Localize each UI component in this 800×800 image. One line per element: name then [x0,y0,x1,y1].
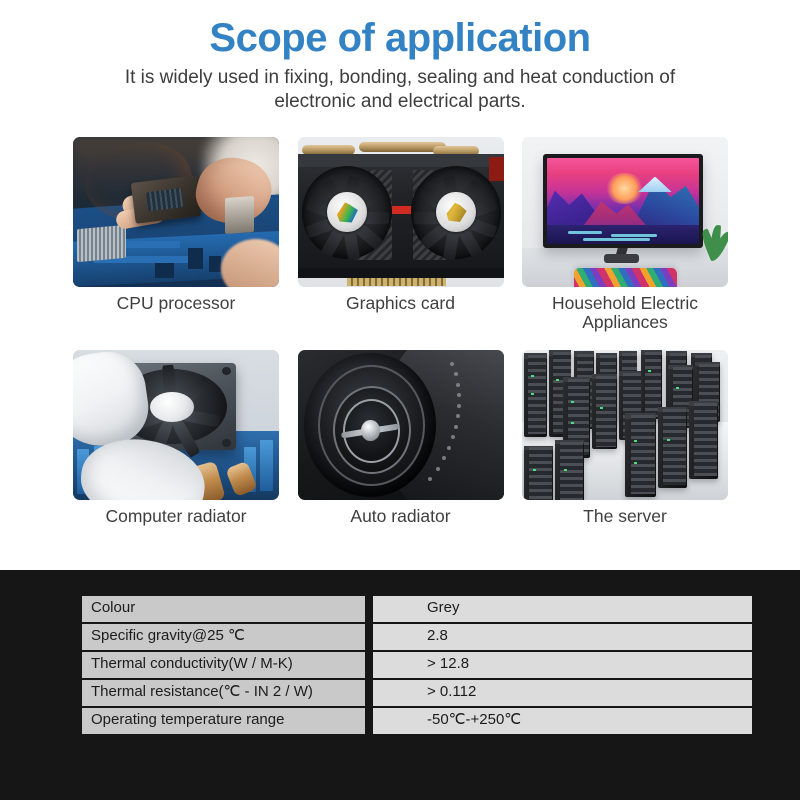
gallery-caption: Auto radiator [298,507,504,527]
gallery-caption: Household Electric Appliances [522,294,728,332]
gallery-item-cpu-processor[interactable]: CPU processor [73,137,279,332]
gallery-item-auto-radiator[interactable]: Auto radiator [298,350,504,527]
table-row: Colour Grey [82,596,752,622]
cpu-processor-photo [73,137,279,287]
household-appliance-monitor-photo [522,137,728,287]
spec-table-band: Colour Grey Specific gravity@25 ℃ 2.8 Th… [0,570,800,800]
spec-key: Colour [82,596,373,622]
gallery-item-server[interactable]: The server [522,350,728,527]
server-rack-photo [522,350,728,500]
spec-value: 2.8 [373,624,752,650]
page-header: Scope of application It is widely used i… [0,0,800,115]
product-detail-page: Scope of application It is widely used i… [0,0,800,800]
computer-radiator-photo [73,350,279,500]
page-title: Scope of application [0,16,800,60]
gallery-item-household-appliances[interactable]: Household Electric Appliances [522,137,728,332]
gallery-caption: Computer radiator [73,507,279,527]
table-row: Thermal resistance(℃ - IN 2 / W) > 0.112 [82,680,752,706]
table-row: Operating temperature range -50℃-+250℃ [82,708,752,734]
gallery-item-computer-radiator[interactable]: Computer radiator [73,350,279,527]
gallery-caption: Graphics card [298,294,504,314]
spec-value: -50℃-+250℃ [373,708,752,734]
table-row: Thermal conductivity(W / M-K) > 12.8 [82,652,752,678]
spec-value: Grey [373,596,752,622]
spec-key: Thermal conductivity(W / M-K) [82,652,373,678]
spec-value: > 0.112 [373,680,752,706]
spec-value: > 12.8 [373,652,752,678]
page-subtitle: It is widely used in fixing, bonding, se… [120,66,680,115]
spec-table-body: Colour Grey Specific gravity@25 ℃ 2.8 Th… [82,596,752,734]
plant-decoration [703,224,726,269]
spec-key: Operating temperature range [82,708,373,734]
gallery-caption: CPU processor [73,294,279,314]
gallery-caption: The server [522,507,728,527]
spec-table: Colour Grey Specific gravity@25 ℃ 2.8 Th… [82,594,752,736]
graphics-card-photo [298,137,504,287]
gallery-row-2: Computer radiator [73,350,728,527]
gallery-item-graphics-card[interactable]: Graphics card [298,137,504,332]
table-row: Specific gravity@25 ℃ 2.8 [82,624,752,650]
gallery-row-1: CPU processor [73,137,728,332]
spec-key: Thermal resistance(℃ - IN 2 / W) [82,680,373,706]
application-gallery: CPU processor [73,137,728,526]
auto-radiator-photo [298,350,504,500]
spec-key: Specific gravity@25 ℃ [82,624,373,650]
